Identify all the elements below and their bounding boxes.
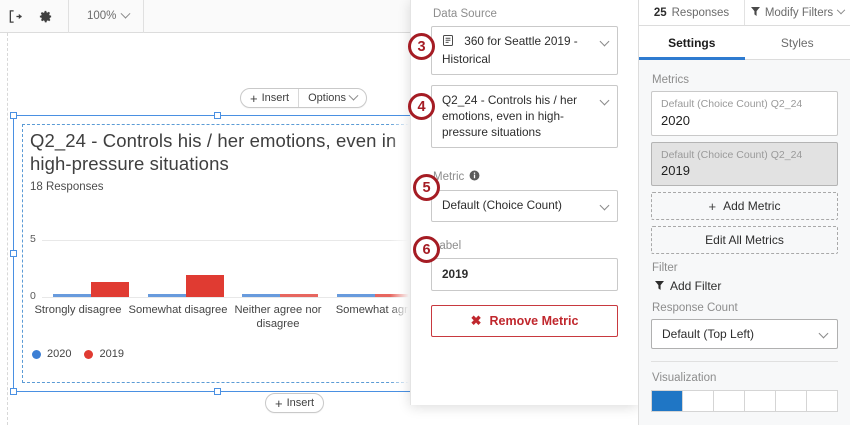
metric-editor-flyout: Data Source 360 for Seattle 2019 - Histo… bbox=[410, 0, 638, 405]
question-field-select[interactable]: Q2_24 - Controls his / her emotions, eve… bbox=[431, 85, 618, 148]
chart-y-tick: 5 bbox=[30, 233, 36, 245]
chart-bar[interactable] bbox=[337, 294, 375, 297]
viz-type-3[interactable] bbox=[714, 390, 745, 412]
insert-options-toolbar: + Insert Options bbox=[240, 88, 367, 108]
bar-chart-plot: 05 bbox=[30, 238, 422, 300]
viz-type-2[interactable] bbox=[683, 390, 714, 412]
step-badge-3: 3 bbox=[408, 33, 435, 60]
legend-item[interactable]: 2020 bbox=[32, 348, 71, 360]
chart-legend: 20202019 bbox=[32, 348, 124, 360]
response-count-label: Response Count bbox=[652, 302, 838, 314]
step-badge-4: 4 bbox=[408, 93, 435, 120]
metric-card-caption: Default (Choice Count) Q2_24 bbox=[661, 149, 828, 163]
zoom-level-value: 100% bbox=[87, 10, 116, 22]
chart-bar[interactable] bbox=[91, 282, 129, 297]
right-sidebar: 25 Responses Modify Filters Settings Sty… bbox=[638, 0, 850, 425]
responses-summary: 25 Responses bbox=[639, 0, 745, 25]
resize-handle-bottom-left[interactable] bbox=[10, 388, 17, 395]
modify-filters-label: Modify Filters bbox=[765, 7, 833, 19]
gear-icon[interactable] bbox=[30, 0, 60, 32]
resize-handle-bottom-center[interactable] bbox=[214, 388, 221, 395]
viz-type-4[interactable] bbox=[745, 390, 776, 412]
toolbar-divider bbox=[68, 0, 69, 33]
add-filter-button[interactable]: Add Filter bbox=[655, 279, 838, 293]
plus-icon: + bbox=[709, 200, 717, 213]
plus-icon: + bbox=[250, 92, 258, 105]
sidebar-header: 25 Responses Modify Filters bbox=[639, 0, 850, 26]
insert-label-top: Insert bbox=[262, 92, 290, 104]
metric-type-select[interactable]: Default (Choice Count) bbox=[431, 190, 618, 222]
legend-item[interactable]: 2019 bbox=[84, 348, 123, 360]
response-count-select[interactable]: Default (Top Left) bbox=[651, 319, 838, 349]
add-filter-label: Add Filter bbox=[670, 279, 721, 293]
resize-handle-middle-left[interactable] bbox=[10, 250, 17, 257]
chart-bar[interactable] bbox=[148, 294, 186, 297]
sidebar-tabs: Settings Styles bbox=[639, 26, 850, 60]
step-badge-5: 5 bbox=[413, 174, 440, 201]
chart-bar[interactable] bbox=[186, 275, 224, 297]
metric-card-2019[interactable]: Default (Choice Count) Q2_24 2019 bbox=[651, 142, 838, 187]
metric-label-row: Metric bbox=[433, 170, 618, 184]
legend-label: 2020 bbox=[47, 348, 71, 360]
remove-metric-label: Remove Metric bbox=[489, 314, 578, 328]
chart-bar[interactable] bbox=[280, 294, 318, 297]
insert-bottom-inner[interactable]: + Insert bbox=[266, 394, 323, 412]
add-metric-label: Add Metric bbox=[723, 199, 780, 213]
info-icon[interactable] bbox=[469, 170, 480, 184]
chart-gridline bbox=[42, 240, 422, 241]
chevron-down-icon bbox=[819, 329, 829, 339]
legend-label: 2019 bbox=[99, 348, 123, 360]
insert-label-bottom: Insert bbox=[287, 397, 315, 409]
insert-button-bottom[interactable]: + Insert bbox=[265, 393, 324, 413]
close-icon: ✖ bbox=[471, 313, 482, 329]
data-source-value: 360 for Seattle 2019 - Historical bbox=[442, 34, 578, 66]
edit-all-metrics-button[interactable]: Edit All Metrics bbox=[651, 226, 838, 254]
label-input[interactable]: 2019 bbox=[431, 258, 618, 291]
viz-type-6[interactable] bbox=[807, 390, 838, 412]
chart-x-axis-labels: Strongly disagreeSomewhat disagreeNeithe… bbox=[28, 303, 428, 331]
label-field-label: Label bbox=[433, 240, 618, 252]
viz-type-1[interactable] bbox=[651, 390, 683, 412]
filter-icon bbox=[751, 7, 760, 19]
document-icon bbox=[442, 34, 454, 52]
viz-type-5[interactable] bbox=[776, 390, 807, 412]
chevron-down-icon bbox=[600, 201, 610, 211]
chart-x-label: Strongly disagree bbox=[28, 303, 128, 331]
filter-icon bbox=[655, 279, 664, 293]
chart-y-tick: 0 bbox=[30, 290, 36, 302]
filter-label: Filter bbox=[652, 262, 838, 274]
chart-x-label: Neither agree nor disagree bbox=[228, 303, 328, 331]
options-button[interactable]: Options bbox=[299, 89, 366, 107]
responses-count: 25 bbox=[654, 7, 667, 19]
add-metric-button[interactable]: + Add Metric bbox=[651, 192, 838, 220]
legend-swatch-icon bbox=[84, 350, 93, 359]
chevron-down-icon bbox=[349, 90, 359, 100]
metric-type-value: Default (Choice Count) bbox=[442, 198, 562, 212]
chevron-down-icon bbox=[837, 5, 845, 13]
sidebar-settings-body: Metrics Default (Choice Count) Q2_24 202… bbox=[639, 60, 850, 412]
chart-x-label: Somewhat disagree bbox=[128, 303, 228, 331]
zoom-level-control[interactable]: 100% bbox=[73, 0, 144, 33]
plus-icon: + bbox=[275, 397, 283, 410]
remove-metric-button[interactable]: ✖ Remove Metric bbox=[431, 305, 618, 337]
chevron-down-icon bbox=[121, 8, 131, 18]
tab-styles[interactable]: Styles bbox=[745, 26, 850, 59]
label-input-value: 2019 bbox=[442, 267, 468, 281]
sidebar-divider bbox=[651, 361, 838, 362]
chart-gridline bbox=[42, 297, 422, 298]
edit-all-metrics-label: Edit All Metrics bbox=[705, 233, 784, 247]
data-source-select[interactable]: 360 for Seattle 2019 - Historical bbox=[431, 26, 618, 75]
resize-handle-top-center[interactable] bbox=[214, 112, 221, 119]
resize-handle-top-left[interactable] bbox=[10, 112, 17, 119]
visualization-label: Visualization bbox=[652, 372, 838, 384]
chart-title: Q2_24 - Controls his / her emotions, eve… bbox=[30, 130, 422, 175]
modify-filters-button[interactable]: Modify Filters bbox=[745, 0, 850, 25]
metrics-label: Metrics bbox=[652, 74, 838, 86]
insert-button-top[interactable]: + Insert bbox=[241, 89, 298, 107]
metric-card-2020[interactable]: Default (Choice Count) Q2_24 2020 bbox=[651, 91, 838, 136]
canvas-guide bbox=[7, 33, 8, 425]
legend-swatch-icon bbox=[32, 350, 41, 359]
metric-card-value: 2019 bbox=[661, 163, 828, 178]
chevron-down-icon bbox=[600, 96, 610, 106]
chevron-down-icon bbox=[600, 37, 610, 47]
metric-card-value: 2020 bbox=[661, 113, 828, 128]
question-field-value: Q2_24 - Controls his / her emotions, eve… bbox=[442, 93, 577, 138]
options-label: Options bbox=[308, 92, 346, 104]
response-count-value: Default (Top Left) bbox=[662, 327, 754, 341]
export-icon[interactable] bbox=[0, 0, 30, 32]
chart-bar[interactable] bbox=[242, 294, 280, 297]
chart-bar[interactable] bbox=[53, 294, 91, 297]
step-badge-6: 6 bbox=[413, 236, 440, 263]
responses-label: Responses bbox=[672, 7, 730, 19]
metric-card-caption: Default (Choice Count) Q2_24 bbox=[661, 98, 828, 112]
data-source-label: Data Source bbox=[433, 8, 618, 20]
chart-response-count: 18 Responses bbox=[30, 181, 104, 193]
visualization-type-picker[interactable] bbox=[651, 390, 838, 412]
tab-settings[interactable]: Settings bbox=[639, 26, 745, 59]
